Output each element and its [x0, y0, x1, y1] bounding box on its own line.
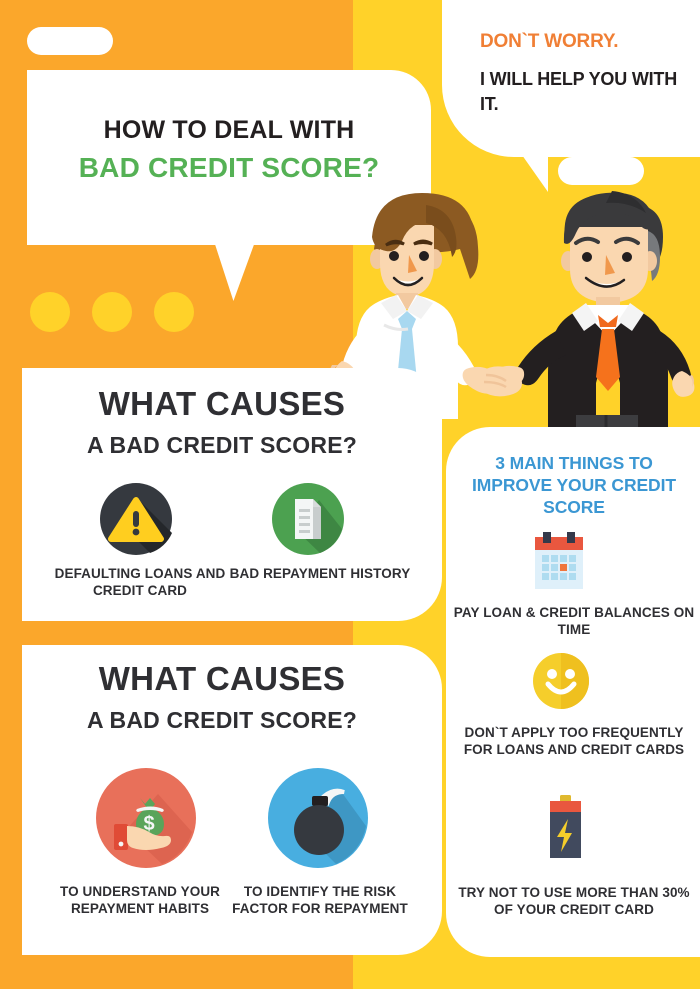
improve-item1-label: PAY LOAN & CREDIT BALANCES ON TIME: [452, 604, 696, 638]
decorative-dots: [30, 292, 194, 332]
dot-1: [30, 292, 70, 332]
card2-item1-label: TO UNDERSTAND YOUR REPAYMENT HABITS: [45, 883, 235, 917]
battery-icon: [543, 795, 587, 866]
improve-item2-label: DON`T APPLY TOO FREQUENTLY FOR LOANS AND…: [452, 724, 696, 758]
card1-item1-label: DEFAULTING LOANS AND CREDIT CARD: [45, 565, 235, 599]
hand-money-bag-icon: $: [96, 768, 196, 873]
decorative-pill-help: [558, 157, 644, 185]
page-title-line1: HOW TO DEAL WITH: [27, 116, 431, 145]
dot-2: [92, 292, 132, 332]
calendar-icon: [528, 531, 590, 596]
help-text-line2: I WILL HELP YOU WITH IT.: [480, 67, 685, 117]
card1-heading-line1: WHAT CAUSES: [22, 385, 422, 423]
improve-item3-label: TRY NOT TO USE MORE THAN 30% OF YOUR CRE…: [452, 884, 696, 918]
page-title-line2: BAD CREDIT SCORE?: [27, 152, 431, 184]
warning-triangle-icon: [100, 483, 172, 560]
document-report-icon: [272, 483, 344, 560]
decorative-pill-top-left: [27, 27, 113, 55]
card1-heading-line2: A BAD CREDIT SCORE?: [22, 432, 422, 459]
card1-item2-label: BAD REPAYMENT HISTORY: [225, 565, 415, 582]
card2-item2-label: TO IDENTIFY THE RISK FACTOR FOR REPAYMEN…: [225, 883, 415, 917]
card2-heading-line1: WHAT CAUSES: [22, 660, 422, 698]
bomb-icon: [268, 768, 368, 873]
right-businessman: [487, 191, 694, 443]
smiley-face-icon: [533, 653, 589, 714]
dot-3: [154, 292, 194, 332]
card2-heading-line2: A BAD CREDIT SCORE?: [22, 707, 422, 734]
help-text-line1: DON`T WORRY.: [480, 31, 695, 53]
improve-panel-title: 3 MAIN THINGS TO IMPROVE YOUR CREDIT SCO…: [455, 452, 693, 518]
infographic-poster: HOW TO DEAL WITH BAD CREDIT SCORE? DON`T…: [0, 0, 700, 989]
